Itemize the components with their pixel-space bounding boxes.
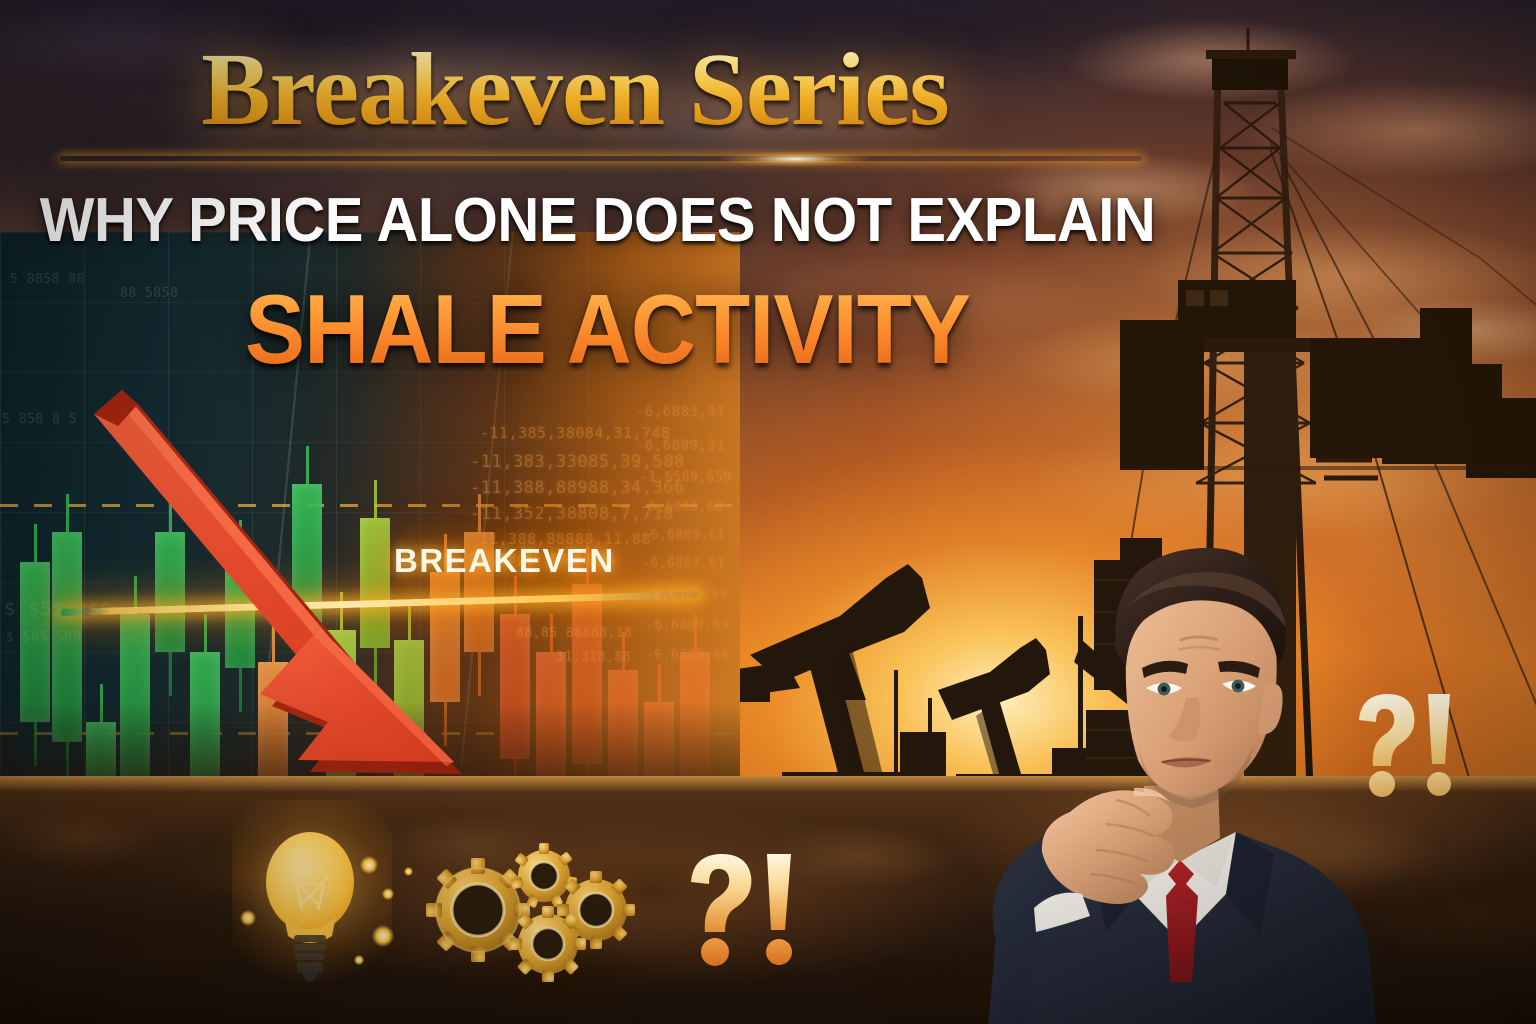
ticker-number: -6,6883,61 bbox=[642, 556, 725, 571]
ticker-number: -6,6889,69 bbox=[646, 618, 729, 633]
ticker-number: -11,383,33085,39,588 bbox=[470, 452, 685, 472]
ticker-number: 88,85 88888,18 bbox=[516, 626, 633, 641]
question-exclamation-icon bbox=[1346, 690, 1462, 806]
page-title: Breakeven Series bbox=[0, 38, 1150, 142]
lightbulb-icon bbox=[262, 832, 358, 982]
thumbnail-canvas: -11,383,33085,39,588-11,388,88988,34,366… bbox=[0, 0, 1536, 1024]
headline: SHALE ACTIVITY bbox=[49, 280, 1167, 378]
question-exclamation-icon bbox=[675, 848, 805, 978]
ticker-number: -6,6889,98 bbox=[646, 648, 729, 663]
candlestick-body bbox=[572, 584, 602, 764]
ticker-number: 31,318,88 bbox=[556, 650, 631, 665]
ticker-number: -1,6589,659 bbox=[640, 470, 732, 485]
divider-flare bbox=[700, 146, 890, 172]
ticker-number: -6,6883,31 bbox=[636, 404, 725, 420]
title-divider bbox=[60, 156, 1142, 161]
candlestick-wick bbox=[658, 664, 661, 702]
ticker-number: -6,6883,68 bbox=[640, 500, 723, 515]
gears-icon bbox=[420, 842, 670, 982]
subtitle: WHY PRICE ALONE DOES NOT EXPLAIN bbox=[39, 190, 1156, 252]
ticker-number: -6,6889,61 bbox=[642, 528, 725, 543]
ticker-number: -6,6889,31 bbox=[636, 438, 725, 454]
candlestick-wick bbox=[514, 576, 517, 614]
declining-trend-arrow-icon bbox=[10, 370, 480, 790]
